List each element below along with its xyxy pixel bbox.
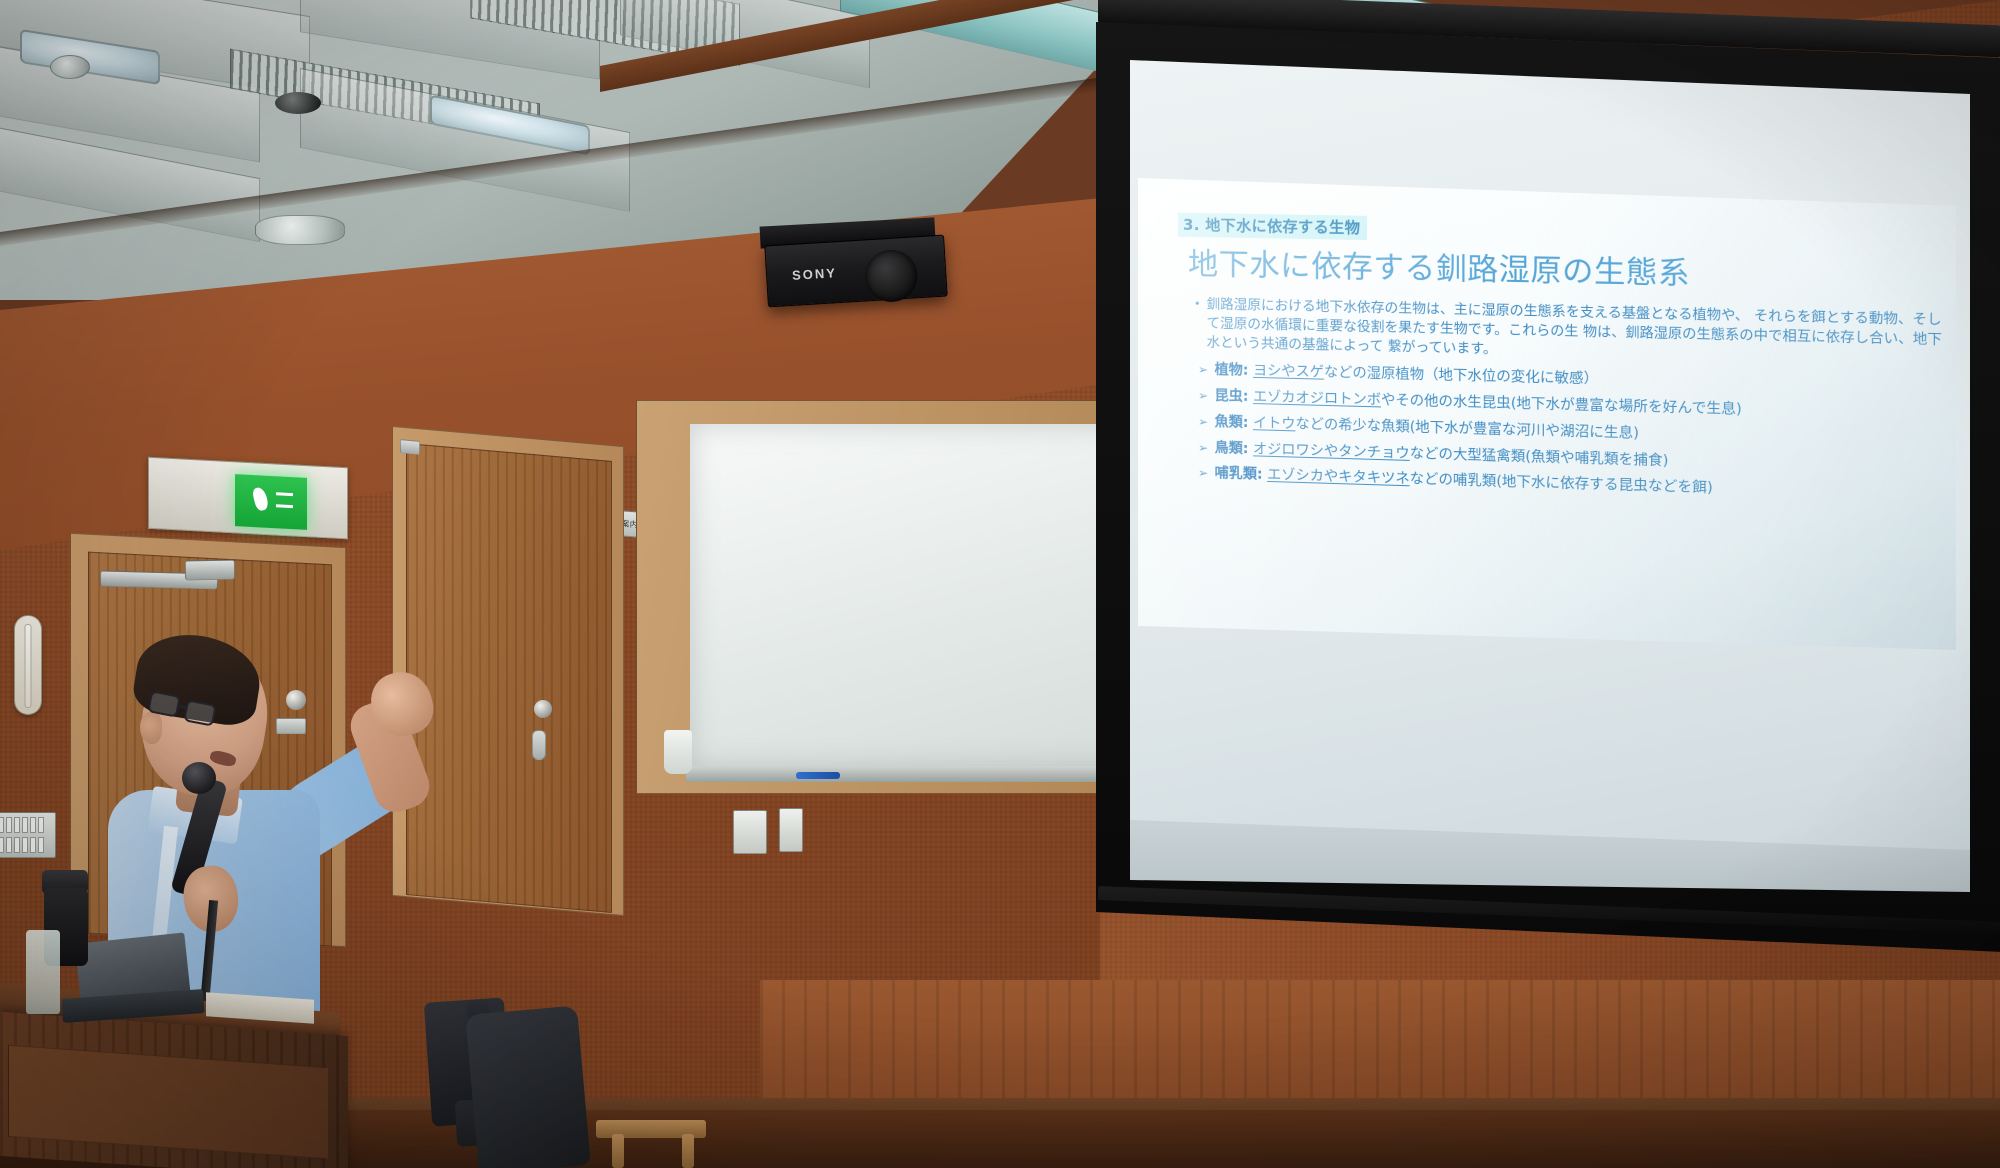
wall-outlet-panel[interactable] (779, 808, 803, 852)
species-category: 哺乳類: (1215, 465, 1263, 483)
projected-slide: 3. 地下水に依存する生物 地下水に依存する釧路湿原の生態系 • 釧路湿原におけ… (1138, 178, 1956, 650)
species-category: 魚類: (1215, 414, 1249, 431)
whiteboard-marker[interactable] (796, 772, 840, 779)
door-stopper-icon (286, 690, 306, 710)
species-category: 植物: (1215, 362, 1249, 379)
species-emphasis: イトウ (1253, 415, 1295, 432)
species-rest: などの希少な魚類(地下水が豊富な河川や湖沼に生息) (1295, 416, 1639, 442)
wall-thermometer (14, 615, 42, 715)
wooden-bench-leg (682, 1134, 694, 1168)
ceiling-smoke-detector-icon (255, 215, 345, 245)
species-rest: などの大型猛禽類(魚類や哺乳類を捕食) (1410, 445, 1669, 469)
microphone-head-icon (182, 762, 216, 794)
wall-speaker: SONY (764, 235, 947, 308)
door-hinge-plate (400, 439, 420, 455)
speaker-brand-label: SONY (792, 265, 838, 283)
slide-paragraph: • 釧路湿原における地下水依存の生物は、主に湿原の生態系を支える基盤となる植物や… (1194, 295, 1949, 371)
species-emphasis: ヨシやスゲ (1253, 363, 1324, 381)
door-closer-body (185, 560, 235, 581)
door-lock-plate (532, 730, 546, 760)
slide-paragraph-line-4: 繋がっています。 (1388, 339, 1497, 358)
slide-content: 3. 地下水に依存する生物 地下水に依存する釧路湿原の生態系 • 釧路湿原におけ… (1138, 178, 1956, 650)
exit-sign (235, 474, 307, 530)
arrow-bullet-icon: ➢ (1198, 440, 1208, 454)
arrow-bullet-icon: ➢ (1198, 389, 1208, 403)
door-knob-icon[interactable] (534, 700, 552, 718)
glasses-lens-left (147, 690, 181, 717)
backpack[interactable] (465, 1005, 591, 1168)
wooden-bench-leg (612, 1134, 624, 1168)
slide-section-label: 3. 地下水に依存する生物 (1178, 213, 1367, 240)
wall-outlet-panel[interactable] (733, 810, 767, 854)
arrow-bullet-icon: ➢ (1198, 414, 1208, 428)
eraser-cup[interactable] (664, 730, 692, 774)
door-right[interactable] (406, 443, 612, 913)
light-switch-panel[interactable] (0, 812, 56, 858)
arrow-bullet-icon: ➢ (1198, 466, 1208, 480)
photo-scene: SONY 会議室案内 (0, 0, 2000, 1168)
slide-species-list: ➢ 植物: ヨシやスゲなどの湿原植物（地下水位の変化に敏感） ➢ 昆虫: エゾカ… (1198, 363, 1956, 504)
species-rest: などの湿原植物（地下水位の変化に敏感） (1324, 365, 1598, 388)
glasses-bridge (178, 705, 187, 709)
species-category: 昆虫: (1215, 388, 1249, 405)
arrow-bullet-icon: ➢ (1198, 363, 1208, 377)
slide-paragraph-text: 釧路湿原における地下水依存の生物は、主に湿原の生態系を支える基盤となる植物や、 … (1207, 295, 1949, 370)
species-rest: などの哺乳類(地下水に依存する昆虫などを餌) (1410, 471, 1713, 496)
species-emphasis: オジロワシやタンチョウ (1253, 441, 1410, 462)
ceiling-vent-icon (50, 55, 90, 79)
glasses-lens-right (183, 699, 217, 726)
species-category: 鳥類: (1215, 440, 1249, 457)
species-emphasis: エゾカオジロトンボ (1253, 389, 1381, 408)
ceiling-speaker-icon (275, 92, 321, 114)
water-bottle[interactable] (26, 930, 60, 1014)
species-rest: やその他の水生昆虫(地下水が豊富な場所を好んで生息) (1381, 392, 1742, 418)
speaker-cone-icon (863, 248, 918, 303)
exit-running-man-icon (246, 481, 296, 523)
slide-bullet-marker: • (1194, 295, 1201, 353)
door-kickplate (276, 718, 306, 734)
species-emphasis: エゾシカやキタキツネ (1267, 467, 1410, 487)
